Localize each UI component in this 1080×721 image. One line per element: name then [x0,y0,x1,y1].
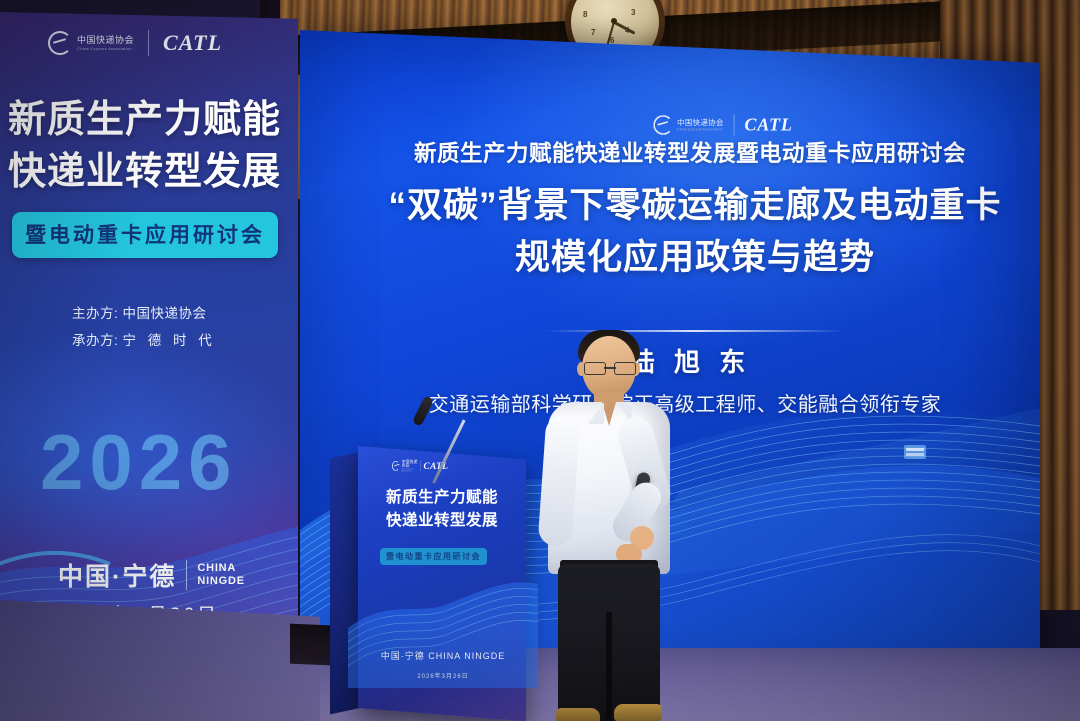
podium: 中国快递协会 China Express Association CATL 新质… [358,446,526,721]
banner-city-block: 中国·宁德 CHINA NINGDE [58,557,245,593]
clock-number: 3 [631,8,635,17]
eyeglasses-icon [584,362,636,374]
speaker-name: 陆 旭 东 [380,342,1000,379]
banner-city-en-line2: NINGDE [197,575,245,588]
cea-emblem-icon [48,31,72,55]
podium-headline-line1: 新质生产力赋能 [366,486,518,509]
banner-city-en-line1: CHINA [197,562,245,575]
china-express-association-logo: 中国快递协会 China Express Association [653,115,724,135]
banner-headline-line2: 快递业转型发展 [8,146,298,198]
cea-name-en: China Express Association [402,468,419,471]
podium-city: 中国·宁德 CHINA NINGDE [368,649,518,662]
cea-name-en: China Express Association [77,47,134,51]
banner-logo-row: 中国快递协会 China Express Association CATL [48,30,222,56]
china-express-association-logo: 中国快递协会 China Express Association [392,460,418,472]
cea-name-en: China Express Association [677,128,724,131]
banner-headline: 新质生产力赋能 快递业转型发展 [8,94,298,199]
podium-date: 2026年3月26日 [368,671,518,680]
leg-separation [606,612,612,721]
banner-organizer-value: 宁 德 时 代 [123,333,216,348]
banner-organizer-label: 承办方: [72,333,118,348]
podium-headline-line2: 快递业转型发展 [366,509,518,532]
podium-wave-graphic [348,558,538,688]
clock-number: 7 [591,28,595,37]
screen-logo-row: 中国快递协会 China Express Association CATL [653,114,792,135]
china-express-association-logo: 中国快递协会 China Express Association [48,31,134,55]
cea-emblem-icon [653,115,673,135]
clock-center-pin [611,18,617,24]
logo-divider [734,114,735,135]
catl-logo: CATL [163,30,222,56]
cea-name-cn: 中国快递协会 [77,36,134,45]
banner-host-value: 中国快递协会 [123,306,207,321]
podium-headline: 新质生产力赋能 快递业转型发展 [366,486,518,533]
banner-organizers: 主办方: 中国快递协会 承办方: 宁 德 时 代 [72,300,216,354]
conference-photo-scene: 3 4 6 7 8 [0,0,1080,721]
banner-headline-line1: 新质生产力赋能 [8,94,298,146]
clock-number: 8 [583,10,587,19]
talk-title-line1: “双碳”背景下零碳运输走廊及电动重卡 [350,180,1040,232]
cea-name-cn: 中国快递协会 [402,460,419,468]
cea-emblem-icon [392,461,399,471]
podium-subtitle-chip: 暨电动重卡应用研讨会 [380,548,487,565]
collar-left [588,402,604,424]
banner-host-label: 主办方: [72,306,118,321]
logo-divider [148,30,149,56]
city-divider [186,560,187,590]
banner-city-cn: 中国·宁德 [58,557,176,593]
banner-host-line: 主办方: 中国快递协会 [72,300,216,327]
banner-subtitle-chip: 暨电动重卡应用研讨会 [12,212,278,258]
speaker-person [530,330,690,721]
cea-name-cn: 中国快递协会 [677,119,724,126]
stage-floor-left [0,600,320,721]
screen-truck-icon [904,445,926,459]
screen-event-header: 新质生产力赋能快递业转型发展暨电动重卡应用研讨会 [380,136,1000,168]
shoe-right [614,704,662,721]
screen-talk-title: “双碳”背景下零碳运输走廊及电动重卡 规模化应用政策与趋势 [350,180,1040,284]
banner-organizer-line: 承办方: 宁 德 时 代 [72,327,216,354]
catl-logo: CATL [744,114,792,135]
talk-title-line2: 规模化应用政策与趋势 [350,232,1040,284]
banner-year: 2026 [40,417,238,508]
shoe-left [556,708,600,721]
